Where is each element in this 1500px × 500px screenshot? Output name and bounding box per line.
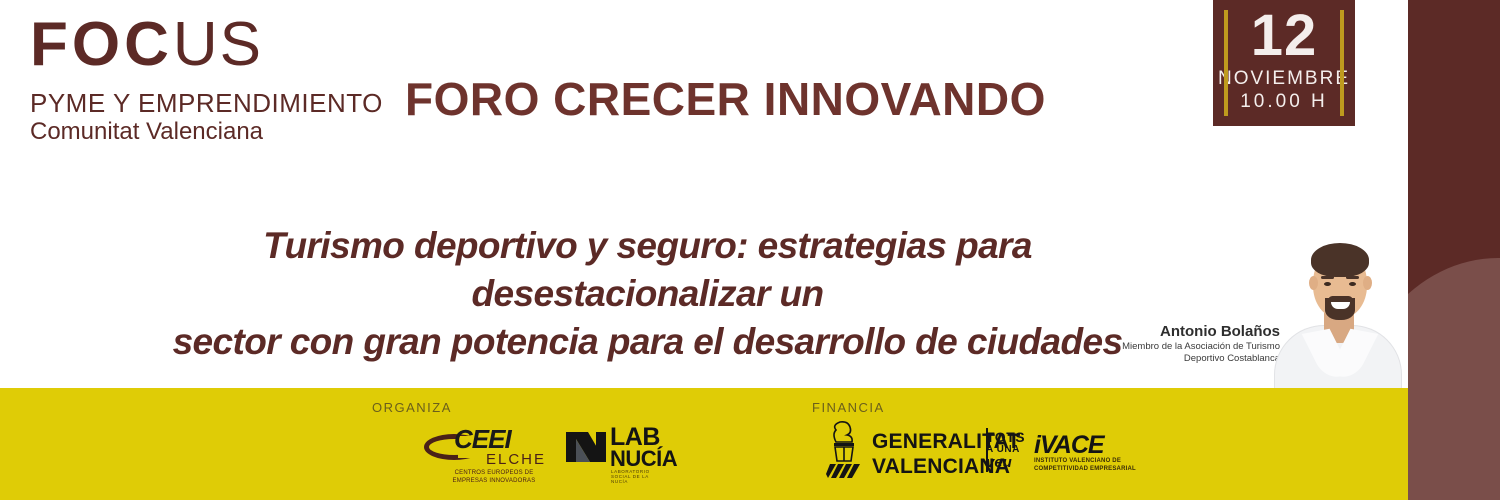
event-name: FORO CRECER INNOVANDO [405,72,1046,126]
photo-eye-left [1324,282,1331,286]
logo-ceei-elche: CEEI ELCHE CENTROS EUROPEOS DE EMPRESAS … [424,426,544,486]
right-decorative-band [1408,0,1500,500]
badge-gold-bar-right [1340,10,1344,116]
focus-subtitle-primary: PYME Y EMPRENDIMIENTO [30,88,380,118]
speaker-role-line-1: Miembro de la Asociación de Turismo [1040,341,1280,353]
focus-logo: FOCUS PYME Y EMPRENDIMIENTO Comunitat Va… [30,14,380,146]
sponsors-footer: ORGANIZA FINANCIA CEEI ELCHE CENTROS EUR… [0,388,1408,500]
event-banner: FOCUS PYME Y EMPRENDIMIENTO Comunitat Va… [0,0,1500,500]
focus-wordmark-bold: FOC [30,10,173,79]
date-month: NOVIEMBRE [1213,68,1355,90]
generalitat-crest-icon [826,420,864,482]
lab-nucia-n-icon [566,426,608,468]
focus-wordmark-light: US [173,10,263,79]
page-title: Turismo deportivo y seguro: estrategias … [110,222,1185,366]
speaker-photo [1268,228,1408,395]
organiza-label: ORGANIZA [372,400,452,415]
photo-ear-right [1363,276,1372,290]
focus-wordmark: FOCUS [30,14,380,76]
speaker-role-line-2: Deportivo Costablanca [1040,353,1280,365]
speaker-name: Antonio Bolaños [1040,322,1280,341]
ivace-tagline-line-2: COMPETITIVIDAD EMPRESARIAL [1034,466,1138,474]
photo-eye-right [1349,282,1356,286]
logo-lab-nucia: LAB NUCÍA LABORATORIO SOCIAL DE LA NUCÍA [566,424,666,480]
date-time: 10.00 H [1213,90,1355,114]
speaker-caption: Antonio Bolaños Miembro de la Asociación… [1040,322,1280,365]
ivace-tagline-line-1: INSTITUTO VALENCIANO DE [1034,458,1138,466]
lab-nucia-city-text: NUCÍA [610,447,677,470]
date-day: 12 [1213,4,1355,68]
focus-subtitle-secondary: Comunitat Valenciana [30,118,380,146]
date-badge: 12 NOVIEMBRE 10.00 H [1213,0,1355,126]
financia-label: FINANCIA [812,400,885,415]
page-title-line-1: Turismo deportivo y seguro: estrategias … [110,222,1185,318]
lab-nucia-tagline: LABORATORIO SOCIAL DE LA NUCÍA [611,469,666,484]
logo-ivace: iVACE INSTITUTO VALENCIANO DE COMPETITIV… [1034,432,1138,473]
ceei-tagline: CENTROS EUROPEOS DE EMPRESAS INNOVADORAS [446,470,542,485]
badge-gold-bar-left [1224,10,1228,116]
ceei-city: ELCHE [486,452,546,468]
page-title-line-2: sector con gran potencia para el desarro… [110,318,1185,366]
photo-ear-left [1309,276,1318,290]
photo-eyebrow-left [1321,276,1334,279]
photo-eyebrow-right [1346,276,1359,279]
ivace-name: iVACE [1034,432,1138,458]
ceei-name: CEEI [454,426,511,452]
decorative-blob-shape [1408,258,1500,500]
photo-hair [1311,243,1369,277]
photo-moustache [1328,296,1353,302]
